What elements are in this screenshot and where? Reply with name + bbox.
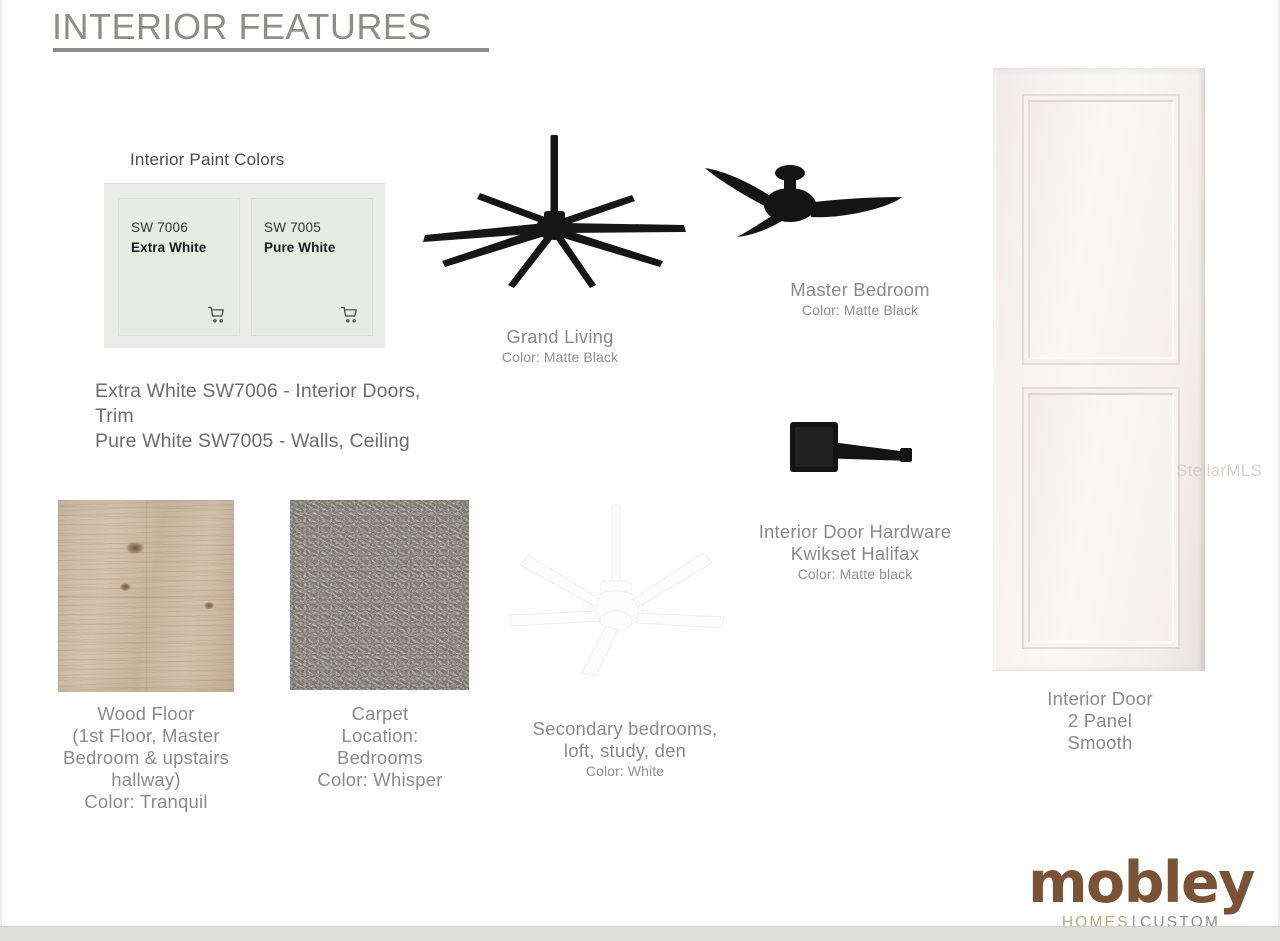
secondary-fan-title: Secondary bedrooms,loft, study, den xyxy=(500,718,750,762)
ceiling-fan-icon xyxy=(500,495,740,680)
bottom-bar xyxy=(0,926,1280,941)
secondary-fan-caption: Secondary bedrooms,loft, study, den Colo… xyxy=(500,718,750,780)
page-left-edge xyxy=(0,0,2,927)
grand-living-color: Color: Matte Black xyxy=(440,348,680,366)
door-hardware-model: Kwikset Halifax xyxy=(730,543,980,565)
paint-swatch-code: SW 7005 xyxy=(264,220,321,235)
paint-swatch-name: Extra White xyxy=(131,240,206,255)
wood-floor-swatch xyxy=(58,500,234,692)
door-hardware-color: Color: Matte black xyxy=(730,565,980,583)
secondary-fan-color: Color: White xyxy=(500,762,750,780)
carpet-caption: Carpet Location:BedroomsColor: Whisper xyxy=(280,703,480,791)
logo-wordmark: mobley xyxy=(1028,858,1254,908)
interior-door-caption: Interior Door2 PanelSmooth xyxy=(1000,688,1200,754)
ceiling-fan-icon xyxy=(420,125,690,315)
door-hardware-title: Interior Door Hardware xyxy=(730,521,980,543)
door-panel-top xyxy=(1028,100,1174,359)
paint-description: Extra White SW7006 - Interior Doors, Tri… xyxy=(95,379,425,454)
interior-door-title: Interior Door2 PanelSmooth xyxy=(1000,688,1200,754)
master-bedroom-caption: Master Bedroom Color: Matte Black xyxy=(740,279,980,319)
paint-swatch-extra-white[interactable]: SW 7006 Extra White xyxy=(118,198,240,336)
grand-living-title: Grand Living xyxy=(440,326,680,348)
wood-floor-caption: Wood Floor (1st Floor, MasterBedroom & u… xyxy=(36,703,256,813)
door-hardware-caption: Interior Door Hardware Kwikset Halifax C… xyxy=(730,521,980,583)
paint-swatch-name: Pure White xyxy=(264,240,336,255)
mobley-logo: mobley HOMES|CUSTOM xyxy=(1028,858,1254,931)
master-bedroom-color: Color: Matte Black xyxy=(740,301,980,319)
wood-floor-details: (1st Floor, MasterBedroom & upstairshall… xyxy=(36,725,256,813)
cart-icon[interactable] xyxy=(207,305,227,325)
grand-living-caption: Grand Living Color: Matte Black xyxy=(440,326,680,366)
carpet-swatch xyxy=(290,500,469,690)
interior-paint-colors-heading: Interior Paint Colors xyxy=(130,150,284,170)
carpet-title: Carpet xyxy=(280,703,480,725)
paint-swatch-code: SW 7006 xyxy=(131,220,188,235)
wood-floor-title: Wood Floor xyxy=(36,703,256,725)
page-title: INTERIOR FEATURES xyxy=(52,6,432,48)
slide-canvas: INTERIOR FEATURES Interior Paint Colors … xyxy=(0,0,1280,941)
ceiling-fan-icon xyxy=(695,155,915,265)
wood-knot xyxy=(204,602,214,609)
door-panel-bottom xyxy=(1028,393,1174,643)
door-icon xyxy=(993,68,1205,671)
wood-knot xyxy=(126,542,144,554)
master-bedroom-title: Master Bedroom xyxy=(740,279,980,301)
door-lever-icon xyxy=(782,414,918,496)
paint-colors-card: SW 7006 Extra White SW 7005 Pure White xyxy=(104,183,385,348)
cart-icon[interactable] xyxy=(340,305,360,325)
paint-swatch-pure-white[interactable]: SW 7005 Pure White xyxy=(251,198,373,336)
title-underline xyxy=(53,48,489,52)
wood-knot xyxy=(120,583,131,591)
carpet-details: Location:BedroomsColor: Whisper xyxy=(280,725,480,791)
